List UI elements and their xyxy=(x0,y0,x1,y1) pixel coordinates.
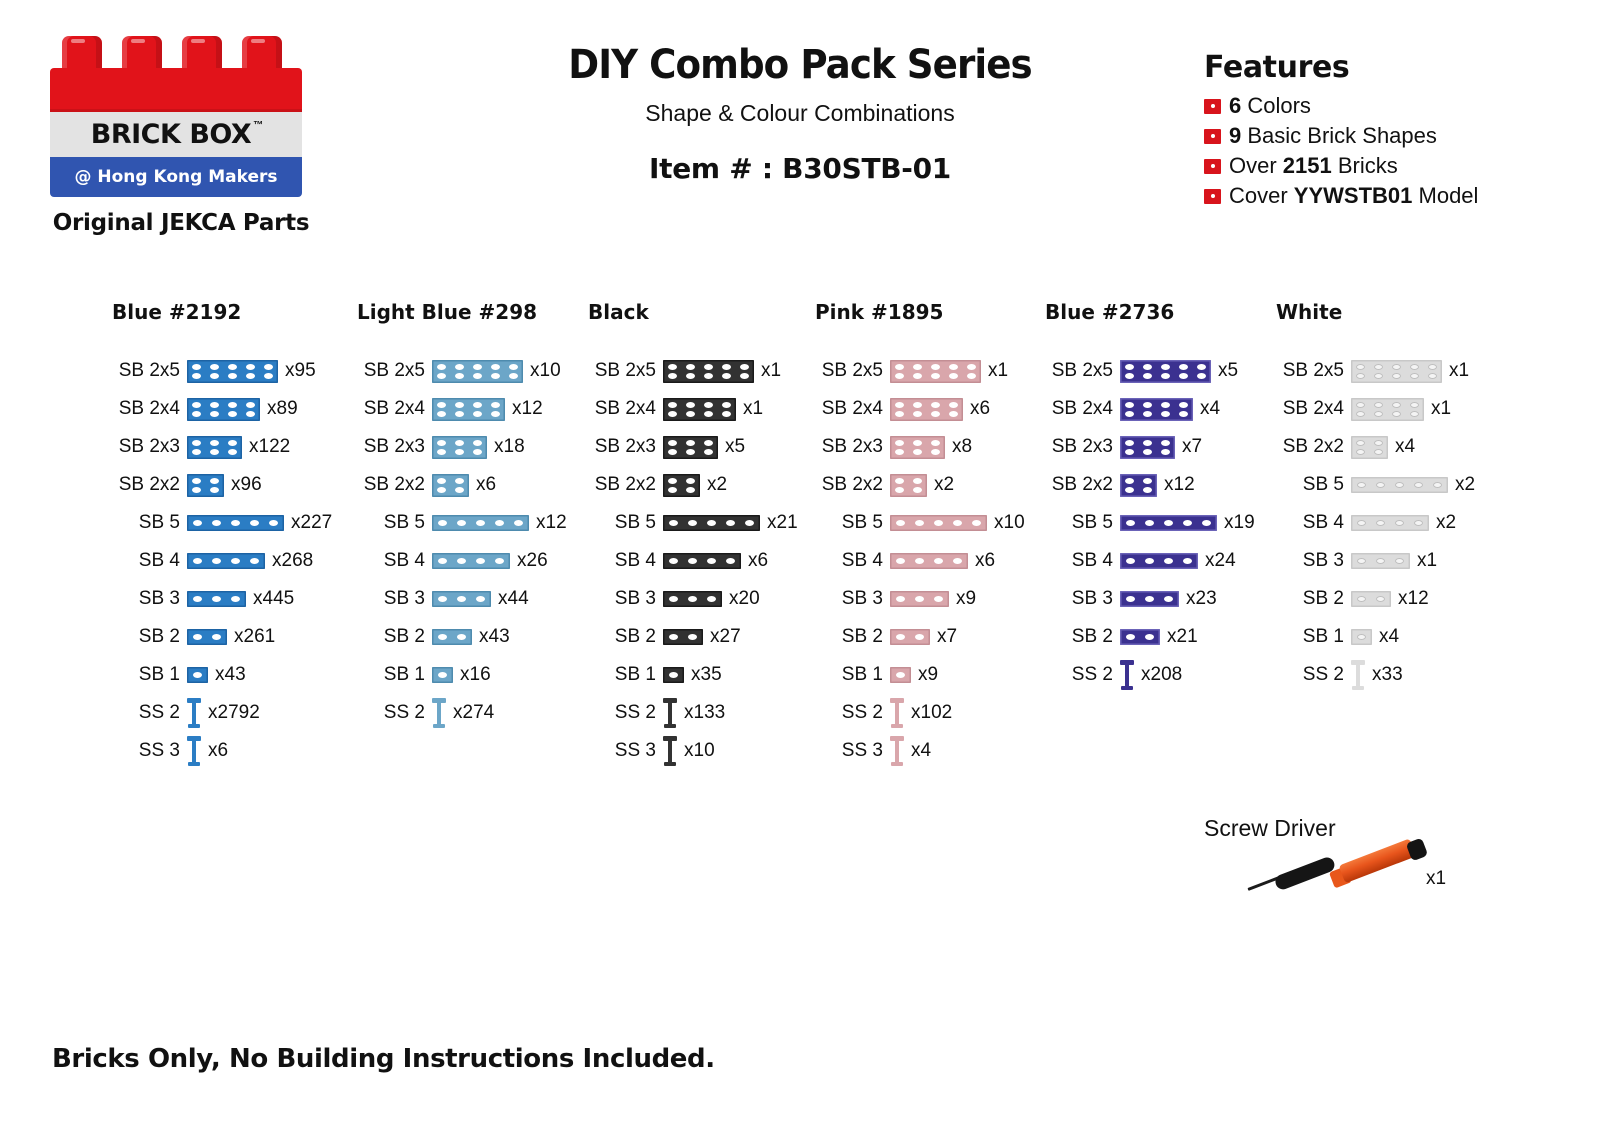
part-row: SB 5x227 xyxy=(112,504,332,542)
part-shape xyxy=(663,591,722,607)
part-shape xyxy=(187,591,246,607)
brick-stud xyxy=(1410,411,1419,417)
part-quantity: x43 xyxy=(479,626,510,648)
part-quantity: x18 xyxy=(494,436,525,458)
part-quantity: x1 xyxy=(743,398,763,420)
screwdriver-qty: x1 xyxy=(1426,868,1446,890)
brick-stud-row xyxy=(1125,478,1152,484)
brick-stud xyxy=(210,449,219,455)
part-quantity: x1 xyxy=(1449,360,1469,382)
screw-part xyxy=(1356,664,1360,686)
column-rows: SB 2x5x10SB 2x4x12SB 2x3x18SB 2x2x6SB 5x… xyxy=(357,352,567,732)
brick-stud xyxy=(210,487,219,493)
column-rows: SB 2x5x95SB 2x4x89SB 2x3x122SB 2x2x96SB … xyxy=(112,352,332,770)
part-row: SB 1x35 xyxy=(588,656,798,694)
brick-stud-row xyxy=(1125,487,1152,493)
brick-stud xyxy=(438,558,447,564)
part-shape xyxy=(890,360,981,383)
part-label: SB 1 xyxy=(112,664,180,686)
brick-stud-row xyxy=(1356,364,1437,370)
part-quantity: x6 xyxy=(748,550,768,572)
brick-stud xyxy=(1376,558,1385,564)
part-quantity: x24 xyxy=(1205,550,1236,572)
part-row: SS 3x10 xyxy=(588,732,798,770)
brick-stud xyxy=(1143,478,1152,484)
part-quantity: x89 xyxy=(267,398,298,420)
part-row: SB 4x6 xyxy=(815,542,1025,580)
brick-2-row xyxy=(187,360,278,383)
brick-stud xyxy=(972,520,981,526)
bullet-square-icon xyxy=(1204,129,1221,144)
brick-stud xyxy=(686,487,695,493)
brick-stud xyxy=(686,411,695,417)
brick-stud xyxy=(1126,558,1135,564)
part-shape xyxy=(187,698,201,728)
brick-stud xyxy=(210,411,219,417)
header: DIY Combo Pack Series Shape & Colour Com… xyxy=(520,44,1080,185)
brick-stud xyxy=(722,373,731,379)
part-row: SB 2x27 xyxy=(588,618,798,656)
part-label: SS 2 xyxy=(357,702,425,724)
brick-stud xyxy=(1392,402,1401,408)
part-shape xyxy=(432,515,529,531)
brick-1-row xyxy=(432,591,491,607)
brick-2-row xyxy=(1120,398,1193,421)
logo-stud xyxy=(122,36,162,72)
part-shape xyxy=(890,474,927,497)
part-quantity: x2 xyxy=(934,474,954,496)
brick-stud xyxy=(913,402,922,408)
brick-stud xyxy=(228,402,237,408)
brick-stud xyxy=(668,402,677,408)
part-label: SB 4 xyxy=(588,550,656,572)
brick-stud xyxy=(1179,373,1188,379)
part-row: SB 2x4x12 xyxy=(357,390,567,428)
part-label: SB 2 xyxy=(1276,588,1344,610)
part-row: SB 5x19 xyxy=(1045,504,1255,542)
part-label: SB 4 xyxy=(1276,512,1344,534)
brick-stud-row xyxy=(437,487,464,493)
brick-stud xyxy=(264,364,273,370)
brick-stud xyxy=(953,558,962,564)
part-label: SB 2 xyxy=(1045,626,1113,648)
part-shape xyxy=(432,398,505,421)
part-shape xyxy=(1351,629,1372,645)
part-row: SB 3x1 xyxy=(1276,542,1475,580)
part-label: SB 2x4 xyxy=(112,398,180,420)
bullet-square-icon xyxy=(1204,189,1221,204)
brick-stud xyxy=(704,449,713,455)
brick-stud xyxy=(915,558,924,564)
column-title: Blue #2192 xyxy=(112,300,332,324)
part-label: SB 4 xyxy=(815,550,883,572)
brick-stud xyxy=(193,634,202,640)
brick-1-row xyxy=(432,667,453,683)
brick-stud xyxy=(1197,373,1206,379)
part-quantity: x23 xyxy=(1186,588,1217,610)
part-shape xyxy=(432,667,453,683)
brick-stud xyxy=(437,411,446,417)
parts-column: Blue #2192SB 2x5x95SB 2x4x89SB 2x3x122SB… xyxy=(112,300,332,770)
logo-brick-graphic: BRICK BOX ™ @ Hong Kong Makers xyxy=(50,36,302,197)
brick-stud xyxy=(1179,411,1188,417)
brick-stud xyxy=(1145,520,1154,526)
brick-stud xyxy=(231,520,240,526)
brick-stud xyxy=(192,373,201,379)
brick-stud xyxy=(455,364,464,370)
brick-stud xyxy=(437,478,446,484)
brick-1-row xyxy=(1120,515,1217,531)
part-quantity: x12 xyxy=(1164,474,1195,496)
logo-red-band xyxy=(50,68,302,112)
brick-stud-row xyxy=(895,440,940,446)
brick-stud xyxy=(1376,520,1385,526)
part-quantity: x4 xyxy=(1200,398,1220,420)
part-row: SB 3x20 xyxy=(588,580,798,618)
brick-stud-row xyxy=(895,402,958,408)
part-quantity: x133 xyxy=(684,702,725,724)
part-shape xyxy=(187,629,227,645)
brick-stud-row xyxy=(668,364,749,370)
brick-2-row xyxy=(432,360,523,383)
brick-stud xyxy=(1161,364,1170,370)
part-label: SB 1 xyxy=(588,664,656,686)
brick-stud xyxy=(669,558,678,564)
brick-stud-row xyxy=(437,411,500,417)
part-label: SS 3 xyxy=(112,740,180,762)
brick-stud xyxy=(707,520,716,526)
brick-stud xyxy=(1125,449,1134,455)
part-label: SB 2x5 xyxy=(112,360,180,382)
column-rows: SB 2x5x1SB 2x4x6SB 2x3x8SB 2x2x2SB 5x10S… xyxy=(815,352,1025,770)
brick-stud xyxy=(438,672,447,678)
brick-stud xyxy=(1356,411,1365,417)
part-label: SB 2x2 xyxy=(357,474,425,496)
trademark-icon: ™ xyxy=(253,120,263,131)
brick-1-row xyxy=(890,515,987,531)
brick-stud xyxy=(192,411,201,417)
part-shape xyxy=(1351,398,1424,421)
brick-stud xyxy=(476,596,485,602)
brick-stud xyxy=(895,373,904,379)
part-quantity: x20 xyxy=(729,588,760,610)
brick-stud-row xyxy=(1356,440,1383,446)
brick-stud xyxy=(688,520,697,526)
part-label: SB 3 xyxy=(588,588,656,610)
screw-pin-icon xyxy=(432,698,446,728)
part-row: SS 2x33 xyxy=(1276,656,1475,694)
part-quantity: x33 xyxy=(1372,664,1403,686)
part-shape xyxy=(663,515,760,531)
brick-1-row xyxy=(1120,629,1160,645)
brick-stud xyxy=(192,449,201,455)
part-shape xyxy=(1351,515,1429,531)
brick-stud xyxy=(967,373,976,379)
part-shape xyxy=(1351,553,1410,569)
brick-stud xyxy=(896,596,905,602)
part-shape xyxy=(187,360,278,383)
part-shape xyxy=(1120,660,1134,690)
brick-stud xyxy=(210,373,219,379)
part-row: SB 2x3x7 xyxy=(1045,428,1255,466)
brick-stud xyxy=(193,558,202,564)
brick-stud xyxy=(895,449,904,455)
part-row: SS 3x6 xyxy=(112,732,332,770)
brick-stud-row xyxy=(668,449,713,455)
part-row: SB 2x12 xyxy=(1276,580,1475,618)
brick-stud xyxy=(246,364,255,370)
brick-stud xyxy=(1179,402,1188,408)
brick-stud xyxy=(437,487,446,493)
brick-stud-row xyxy=(668,373,749,379)
part-quantity: x261 xyxy=(234,626,275,648)
brick-stud xyxy=(1161,440,1170,446)
part-label: SB 2x2 xyxy=(588,474,656,496)
brick-stud xyxy=(669,520,678,526)
part-row: SB 2x3x5 xyxy=(588,428,798,466)
brick-stud xyxy=(1376,596,1385,602)
brick-stud xyxy=(1143,364,1152,370)
part-label: SS 2 xyxy=(1045,664,1113,686)
part-shape xyxy=(1351,436,1388,459)
brick-stud xyxy=(1356,449,1365,455)
brick-stud xyxy=(231,558,240,564)
part-shape xyxy=(663,360,754,383)
part-label: SB 2x3 xyxy=(588,436,656,458)
part-quantity: x227 xyxy=(291,512,332,534)
brick-stud xyxy=(896,672,905,678)
brick-stud xyxy=(949,373,958,379)
brick-stud xyxy=(491,402,500,408)
brick-stud xyxy=(1145,634,1154,640)
part-row: SB 2x5x5 xyxy=(1045,352,1255,390)
part-shape xyxy=(890,591,949,607)
part-shape xyxy=(1351,360,1442,383)
brick-1-row xyxy=(432,515,529,531)
screw-part xyxy=(1352,686,1364,690)
brick-stud xyxy=(722,411,731,417)
brick-stud xyxy=(455,373,464,379)
part-quantity: x12 xyxy=(536,512,567,534)
brick-stud xyxy=(1164,558,1173,564)
part-row: SB 2x2x12 xyxy=(1045,466,1255,504)
brick-stud xyxy=(473,449,482,455)
brick-stud xyxy=(722,402,731,408)
brick-stud xyxy=(473,440,482,446)
brick-stud xyxy=(438,634,447,640)
part-quantity: x7 xyxy=(937,626,957,648)
brick-stud-row xyxy=(895,478,922,484)
brick-stud xyxy=(726,558,735,564)
part-label: SB 2x4 xyxy=(357,398,425,420)
part-shape xyxy=(890,736,904,766)
screw-part xyxy=(895,740,899,762)
brick-1-row xyxy=(1351,553,1410,569)
brick-stud xyxy=(437,440,446,446)
part-shape xyxy=(663,398,736,421)
part-shape xyxy=(187,474,224,497)
part-quantity: x9 xyxy=(918,664,938,686)
brick-stud xyxy=(913,411,922,417)
brick-stud xyxy=(246,373,255,379)
brick-stud xyxy=(192,402,201,408)
brick-stud-row xyxy=(895,373,976,379)
brick-stud-row xyxy=(895,411,958,417)
brick-stud xyxy=(1125,487,1134,493)
part-row: SB 2x3x8 xyxy=(815,428,1025,466)
part-label: SB 2 xyxy=(112,626,180,648)
brick-2-row xyxy=(1351,436,1388,459)
part-label: SB 2x4 xyxy=(815,398,883,420)
column-rows: SB 2x5x5SB 2x4x4SB 2x3x7SB 2x2x12SB 5x19… xyxy=(1045,352,1255,694)
brick-stud xyxy=(1126,520,1135,526)
brick-stud xyxy=(192,440,201,446)
parts-column: BlackSB 2x5x1SB 2x4x1SB 2x3x5SB 2x2x2SB … xyxy=(588,300,798,770)
brick-stud xyxy=(455,440,464,446)
brick-stud xyxy=(1374,402,1383,408)
brick-stud xyxy=(668,373,677,379)
brick-2-row xyxy=(890,360,981,383)
brick-stud xyxy=(514,520,523,526)
part-label: SB 2x4 xyxy=(1045,398,1113,420)
part-shape xyxy=(663,667,684,683)
brick-stud xyxy=(495,520,504,526)
brick-2-row xyxy=(187,474,224,497)
screw-pin-icon xyxy=(187,698,201,728)
brick-stud xyxy=(457,558,466,564)
brick-stud-row xyxy=(668,402,731,408)
brick-stud xyxy=(668,487,677,493)
brick-stud xyxy=(895,487,904,493)
brick-stud-row xyxy=(1125,449,1170,455)
brick-stud xyxy=(669,596,678,602)
brick-stud xyxy=(1374,373,1383,379)
part-shape xyxy=(1120,474,1157,497)
part-quantity: x6 xyxy=(970,398,990,420)
brick-stud xyxy=(895,364,904,370)
part-label: SB 2 xyxy=(357,626,425,648)
column-title: Pink #1895 xyxy=(815,300,1025,324)
brick-stud xyxy=(212,596,221,602)
brick-stud xyxy=(210,440,219,446)
brick-stud-row xyxy=(1356,402,1419,408)
brick-stud xyxy=(1183,558,1192,564)
part-row: SB 2x5x1 xyxy=(815,352,1025,390)
brick-stud xyxy=(210,402,219,408)
part-shape xyxy=(890,398,963,421)
page-title: DIY Combo Pack Series xyxy=(540,44,1061,86)
brick-1-row xyxy=(890,629,930,645)
feature-label: Over 2151 Bricks xyxy=(1229,153,1398,179)
part-shape xyxy=(1351,660,1365,690)
brick-stud-row xyxy=(192,487,219,493)
part-label: SB 2x5 xyxy=(815,360,883,382)
brick-stud xyxy=(457,520,466,526)
brick-stud xyxy=(1161,402,1170,408)
brick-stud xyxy=(686,449,695,455)
feature-label: 9 Basic Brick Shapes xyxy=(1229,123,1437,149)
brick-stud xyxy=(1125,402,1134,408)
brick-2-row xyxy=(1351,398,1424,421)
part-label: SB 5 xyxy=(357,512,425,534)
screwdriver-icon: x1 xyxy=(1204,844,1424,906)
brick-stud xyxy=(264,373,273,379)
brick-stud xyxy=(438,520,447,526)
brick-stud xyxy=(1374,364,1383,370)
logo-stud xyxy=(182,36,222,72)
brick-stud xyxy=(896,558,905,564)
brick-stud xyxy=(228,373,237,379)
brick-stud xyxy=(192,478,201,484)
part-label: SB 2x4 xyxy=(588,398,656,420)
brick-stud xyxy=(934,558,943,564)
brick-2-row xyxy=(1120,474,1157,497)
brick-stud xyxy=(192,364,201,370)
brick-1-row xyxy=(1120,553,1198,569)
column-title: Black xyxy=(588,300,798,324)
part-quantity: x12 xyxy=(1398,588,1429,610)
brick-1-row xyxy=(663,553,741,569)
part-label: SB 2x4 xyxy=(1276,398,1344,420)
part-row: SB 4x268 xyxy=(112,542,332,580)
brick-stud xyxy=(1143,487,1152,493)
part-quantity: x1 xyxy=(1431,398,1451,420)
brick-stud xyxy=(246,402,255,408)
part-quantity: x208 xyxy=(1141,664,1182,686)
part-quantity: x10 xyxy=(530,360,561,382)
part-quantity: x12 xyxy=(512,398,543,420)
part-shape xyxy=(187,736,201,766)
part-row: SB 2x3x18 xyxy=(357,428,567,466)
part-label: SB 4 xyxy=(1045,550,1113,572)
brick-stud xyxy=(1357,558,1366,564)
brick-stud xyxy=(228,449,237,455)
brick-1-row xyxy=(890,667,911,683)
part-row: SB 3x23 xyxy=(1045,580,1255,618)
brick-stud xyxy=(193,672,202,678)
brick-stud-row xyxy=(437,402,500,408)
brick-stud xyxy=(1428,364,1437,370)
part-row: SB 2x4x4 xyxy=(1045,390,1255,428)
brick-stud xyxy=(1125,411,1134,417)
brick-2-row xyxy=(432,474,469,497)
part-label: SB 2x3 xyxy=(815,436,883,458)
brick-stud xyxy=(193,520,202,526)
brick-stud xyxy=(1395,482,1404,488)
part-quantity: x6 xyxy=(975,550,995,572)
part-label: SB 3 xyxy=(1045,588,1113,610)
brick-stud xyxy=(913,449,922,455)
brick-stud xyxy=(1356,402,1365,408)
brick-stud xyxy=(1357,634,1366,640)
part-shape xyxy=(663,474,700,497)
brick-1-row xyxy=(187,629,227,645)
part-quantity: x16 xyxy=(460,664,491,686)
item-number: Item # : B30STB-01 xyxy=(520,152,1080,185)
part-shape xyxy=(890,436,945,459)
feature-label: 6 Colors xyxy=(1229,93,1311,119)
brick-stud xyxy=(437,373,446,379)
brick-stud-row xyxy=(1125,402,1188,408)
part-label: SS 2 xyxy=(588,702,656,724)
brick-stud xyxy=(246,411,255,417)
screw-part xyxy=(433,724,445,728)
part-shape xyxy=(1120,591,1179,607)
part-label: SB 1 xyxy=(815,664,883,686)
screw-part xyxy=(668,740,672,762)
brick-1-row xyxy=(663,515,760,531)
feature-item: 6 Colors xyxy=(1204,93,1554,119)
